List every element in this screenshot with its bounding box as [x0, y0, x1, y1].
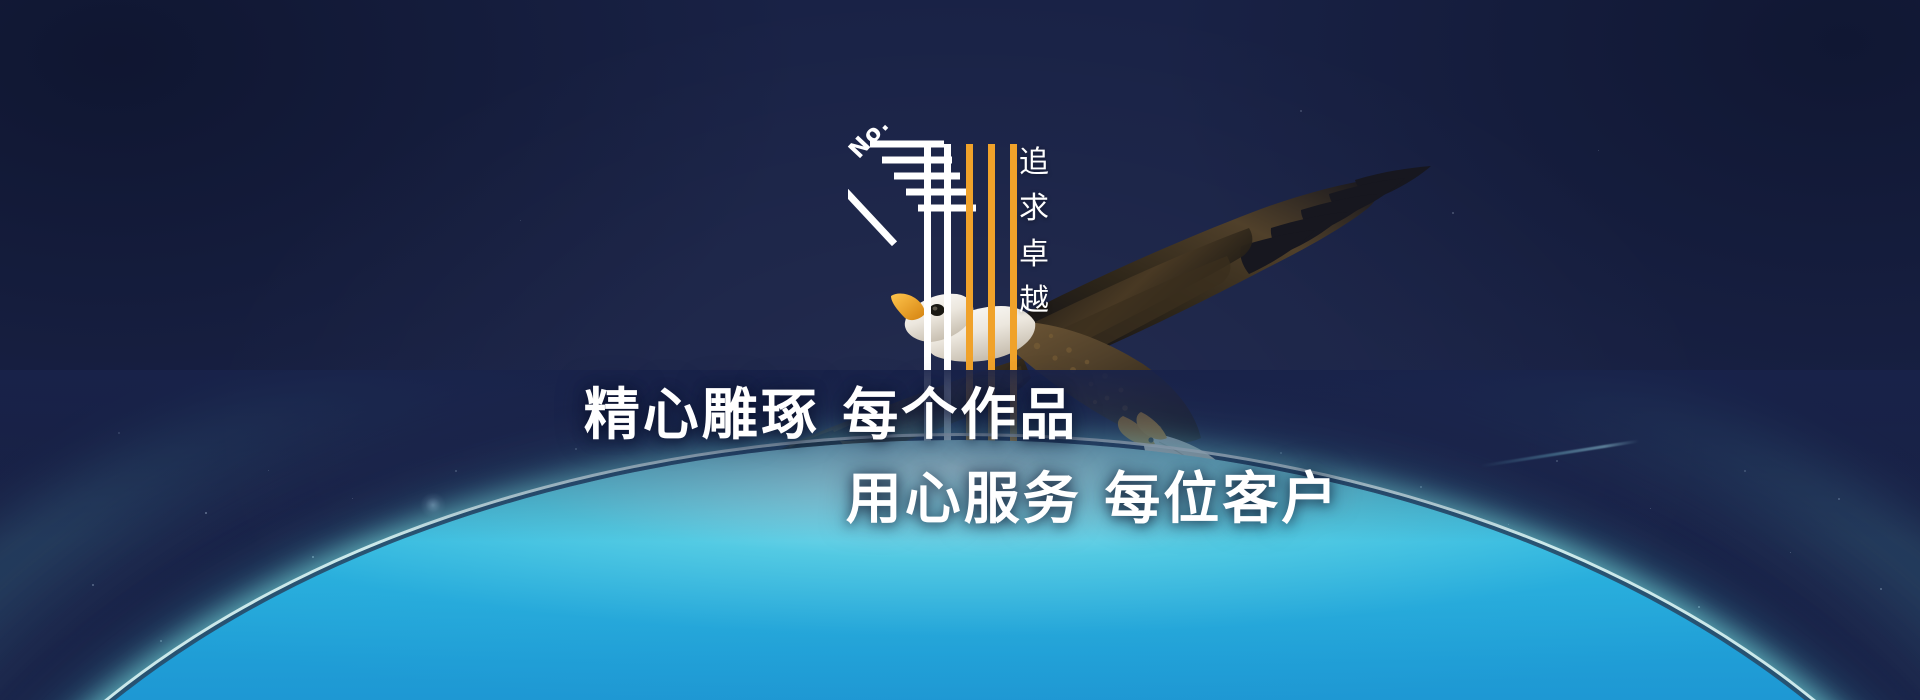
- vertical-slogan: 追 求 卓 越: [1010, 140, 1058, 324]
- vertical-slogan-char-2: 求: [1010, 186, 1058, 232]
- vertical-slogan-char-4: 越: [1010, 278, 1058, 324]
- headline-block: 精心雕琢 每个作品 用心服务 每位客户: [0, 374, 1920, 542]
- hero-banner: No. 追 求 卓 越: [0, 0, 1920, 700]
- vertical-slogan-char-1: 追: [1010, 140, 1058, 186]
- vertical-slogan-char-3: 卓: [1010, 232, 1058, 278]
- headline-line-2: 用心服务 每位客户: [0, 458, 1920, 542]
- headline-line-1: 精心雕琢 每个作品: [0, 374, 1920, 458]
